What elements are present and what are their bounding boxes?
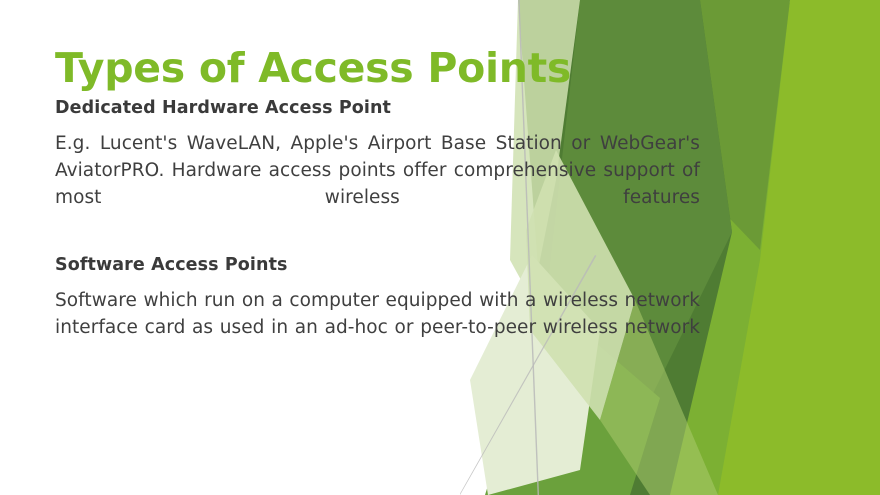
section-body: E.g. Lucent's WaveLAN, Apple's Airport B… (55, 130, 700, 239)
section-dedicated-hardware-access-point: Dedicated Hardware Access Point E.g. Luc… (55, 98, 700, 239)
decor-shape-lime-right (710, 0, 880, 495)
slide-content: Types of Access Points Dedicated Hardwar… (55, 0, 700, 495)
section-body: Software which run on a computer equippe… (55, 287, 700, 369)
section-software-access-points: Software Access Points Software which ru… (55, 255, 700, 369)
decor-shape-olive-green (700, 0, 790, 250)
page-title: Types of Access Points (55, 45, 571, 92)
section-heading: Dedicated Hardware Access Point (55, 98, 700, 119)
slide-canvas: Types of Access Points Dedicated Hardwar… (0, 0, 880, 495)
section-heading: Software Access Points (55, 255, 700, 276)
